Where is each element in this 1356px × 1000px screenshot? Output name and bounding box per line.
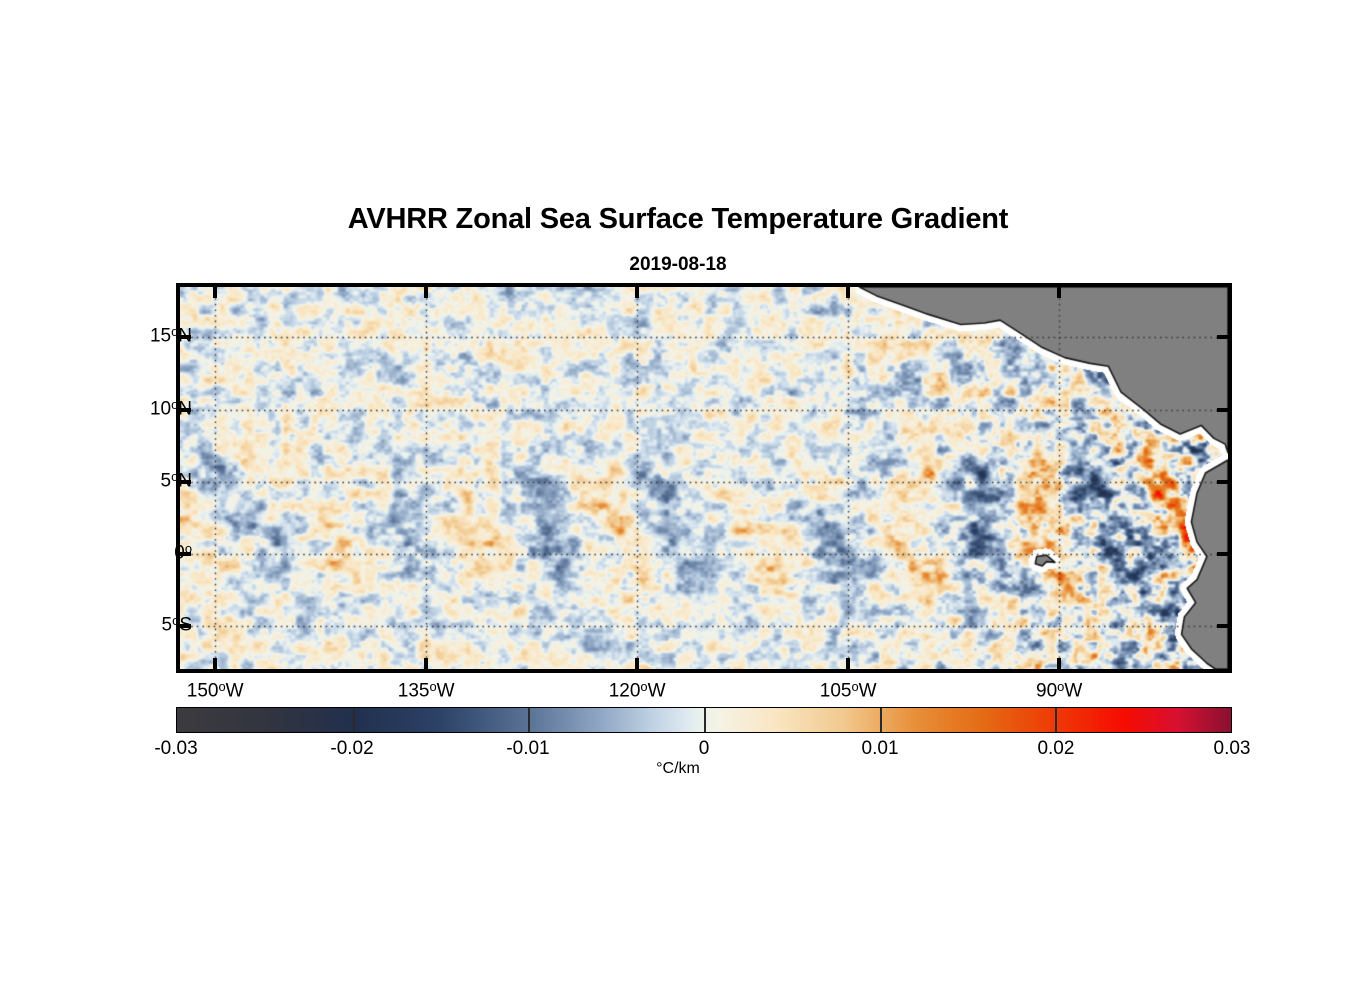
x-tick-3-top [846,287,850,298]
y-tick-0-right [1217,335,1228,339]
x-tick-4-bot [1057,658,1061,669]
x-tick-3-bot [846,658,850,669]
map-axes [176,283,1232,673]
colorbar-tick-label-3: 0 [634,738,774,760]
figure-canvas: AVHRR Zonal Sea Surface Temperature Grad… [0,0,1356,1000]
colorbar-tick-4 [880,708,882,732]
colorbar-tick-label-2: -0.01 [458,738,598,760]
y-tick-label-1: 10oN [72,397,192,420]
y-tick-label-4: 5oS [72,613,192,636]
colorbar-tick-2 [528,708,530,732]
x-tick-1-bot [424,658,428,669]
y-tick-label-2: 5oN [72,469,192,492]
colorbar-tick-label-4: 0.01 [810,738,950,760]
x-tick-label-2: 120oW [577,679,697,702]
x-tick-label-0: 150oW [155,679,275,702]
colorbar [176,707,1232,733]
x-tick-0-bot [213,658,217,669]
colorbar-tick-label-1: -0.02 [282,738,422,760]
y-tick-4-right [1217,624,1228,628]
x-tick-4-top [1057,287,1061,298]
x-tick-2-bot [635,658,639,669]
colorbar-tick-label-6: 0.03 [1162,738,1302,760]
graticule-gridlines [180,287,1228,669]
colorbar-units-label: °C/km [0,760,1356,778]
figure-title: AVHRR Zonal Sea Surface Temperature Grad… [0,203,1356,236]
x-tick-label-1: 135oW [366,679,486,702]
colorbar-tick-3 [704,708,706,732]
y-tick-3-right [1217,552,1228,556]
colorbar-tick-5 [1055,708,1057,732]
colorbar-tick-1 [353,708,355,732]
x-tick-1-top [424,287,428,298]
y-tick-1-right [1217,408,1228,412]
x-tick-label-3: 105oW [788,679,908,702]
y-tick-2-right [1217,480,1228,484]
y-tick-label-3: 0o [72,541,192,564]
colorbar-tick-label-0: -0.03 [106,738,246,760]
x-tick-0-top [213,287,217,298]
x-tick-2-top [635,287,639,298]
colorbar-tick-label-5: 0.02 [986,738,1126,760]
figure-subtitle: 2019-08-18 [0,254,1356,276]
y-tick-label-0: 15oN [72,324,192,347]
x-tick-label-4: 90oW [999,679,1119,702]
